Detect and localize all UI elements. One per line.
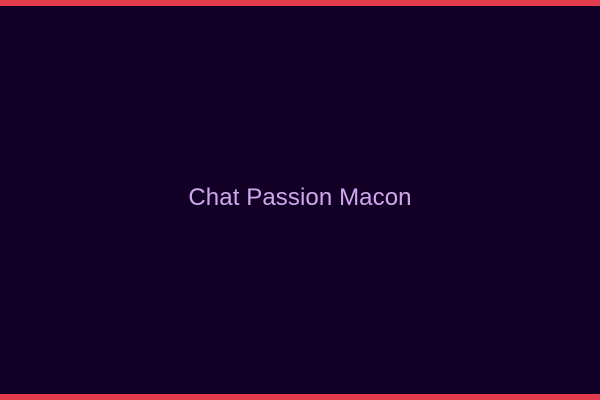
- bottom-accent-bar: [0, 394, 600, 400]
- banner-title: Chat Passion Macon: [188, 184, 411, 213]
- banner-content-area: Chat Passion Macon: [0, 6, 600, 394]
- placeholder-banner-screen: Chat Passion Macon: [0, 0, 600, 400]
